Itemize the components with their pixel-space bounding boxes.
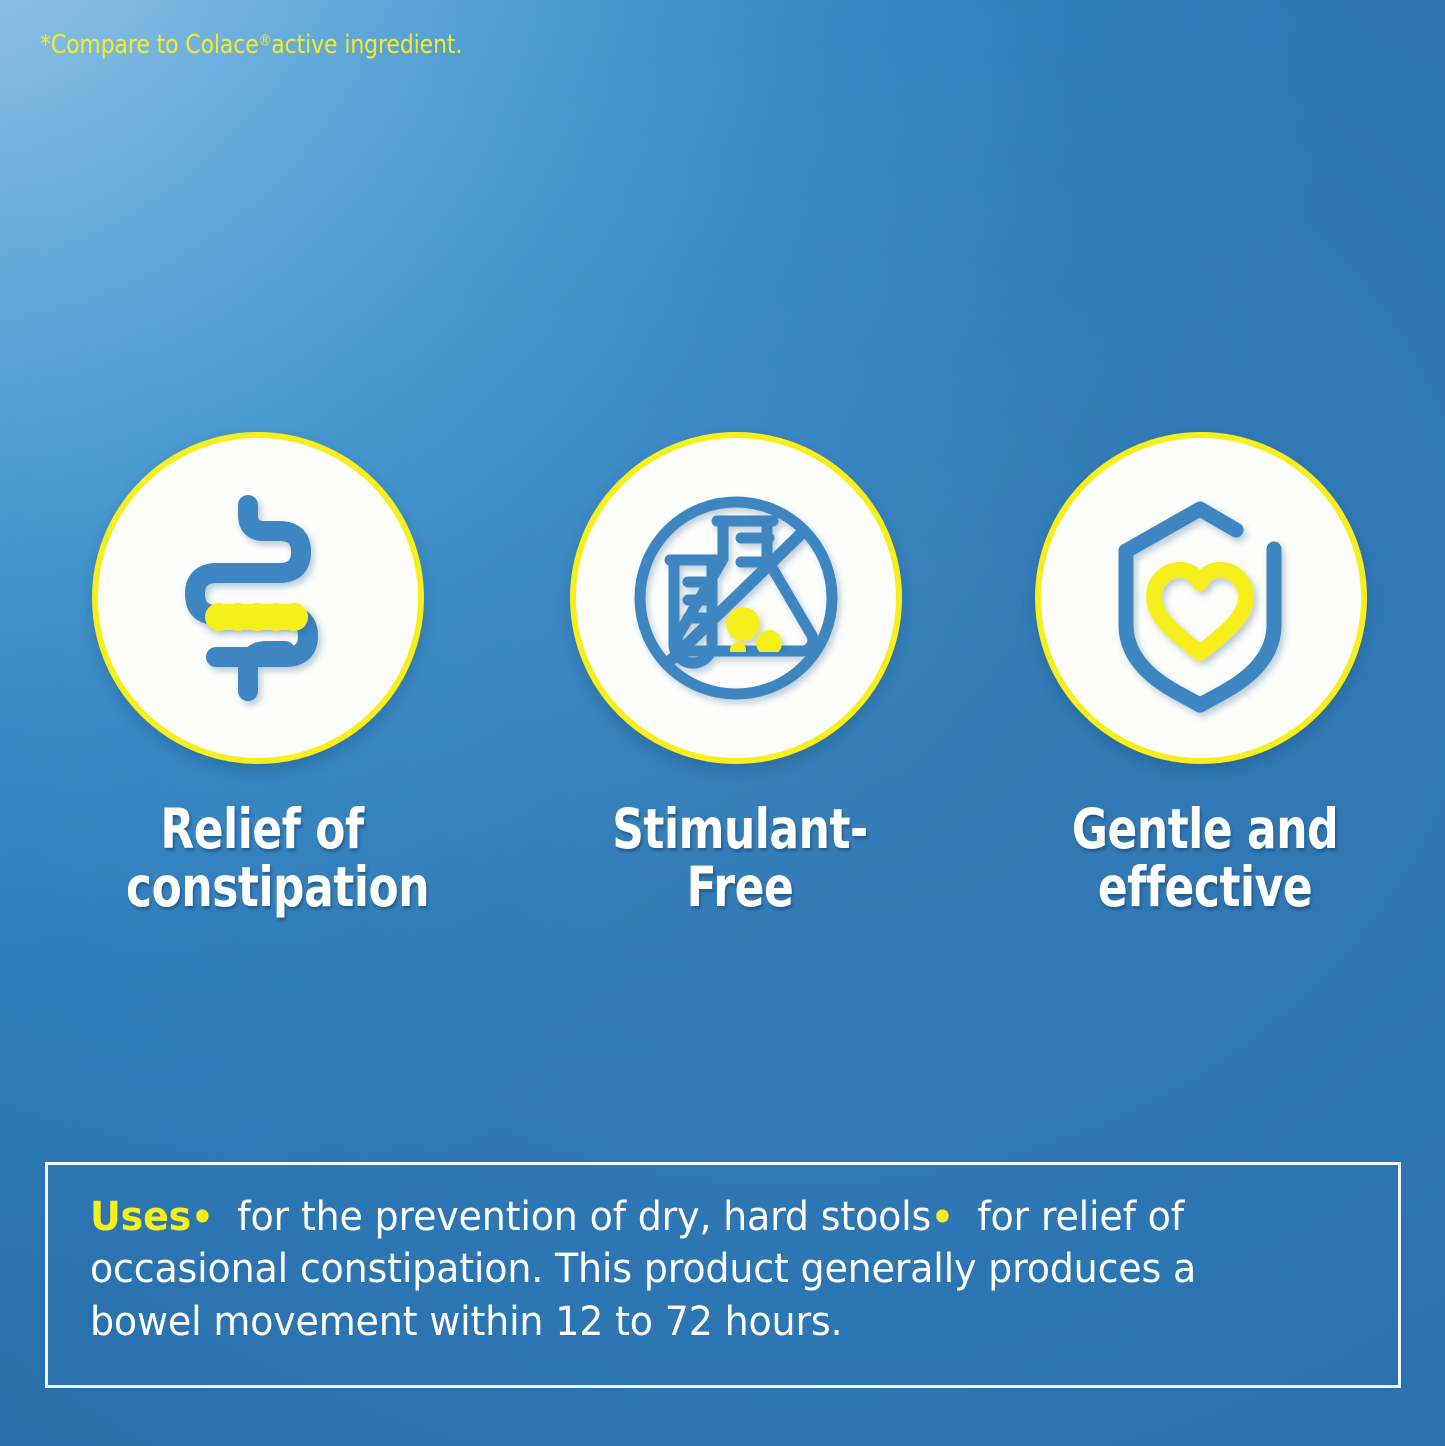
benefit-icon-circle (570, 432, 902, 764)
shield-heart-icon (1076, 473, 1326, 723)
footnote-suffix: active ingredient. (271, 30, 462, 60)
benefit-label: Relief of constipation (126, 800, 398, 917)
benefit-item-gentle-and-effective: Gentle and effective (1035, 432, 1375, 917)
uses-text: Uses• for the prevention of dry, hard st… (90, 1191, 1300, 1348)
benefit-label: Gentle and effective (1069, 800, 1341, 917)
compare-footnote: *Compare to Colace®active ingredient. (40, 30, 462, 60)
uses-bullet-2: • (931, 1195, 953, 1239)
benefit-item-stimulant-free: Stimulant-Free (570, 432, 910, 917)
benefit-icon-circle (1035, 432, 1367, 764)
intestine-icon (133, 473, 383, 723)
benefit-icon-circle (92, 432, 424, 764)
registered-trademark-symbol: ® (259, 32, 272, 49)
uses-keyword: Uses (90, 1194, 191, 1240)
uses-panel: Uses• for the prevention of dry, hard st… (45, 1162, 1401, 1388)
benefits-row: Relief of constipation (0, 432, 1445, 992)
no-chemicals-flask-icon (610, 472, 862, 724)
footnote-prefix: *Compare to Colace (40, 30, 259, 60)
uses-bullet-1: • (191, 1195, 213, 1239)
uses-segment-1: for the prevention of dry, hard stools (237, 1194, 931, 1240)
benefit-label: Stimulant-Free (604, 800, 876, 917)
benefit-item-relief-of-constipation: Relief of constipation (92, 432, 432, 917)
